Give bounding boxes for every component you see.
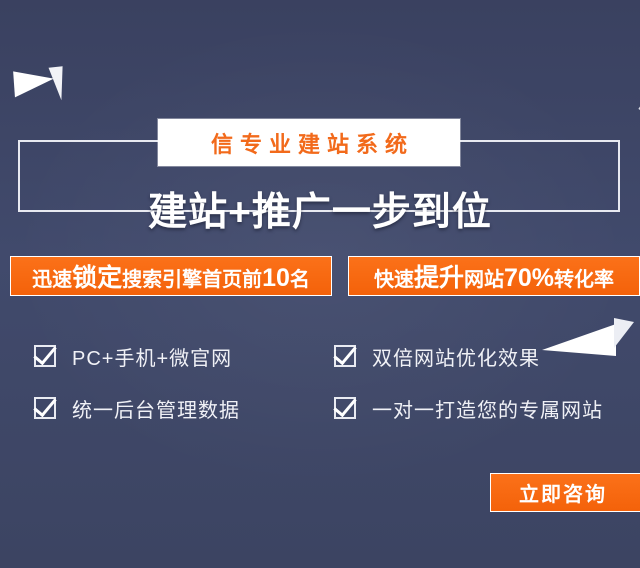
title-chip: 信专业建站系统 [158,119,460,166]
paper-plane-icon [14,62,70,106]
badge-conversion-rate: 快速提升网站70%转化率 [348,256,640,296]
badge-segment: 搜索引擎首页前 [122,269,262,291]
checkbox-checked-icon [334,345,356,367]
badge-segment: 名 [290,269,310,291]
badge-segment: 提升 [414,264,464,292]
consult-now-button[interactable]: 立即咨询 [490,473,640,512]
badge-segment: 转化率 [554,269,614,291]
paper-plane-wing-small [47,66,62,100]
badge-left-text: 迅速锁定搜索引擎首页前10名 [32,258,310,294]
title-chip-label: 信专业建站系统 [204,127,414,159]
feature-list: PC+手机+微官网 双倍网站优化效果 统一后台管理数据 一对一打造您的专属网站 [34,330,634,434]
feature-label: 双倍网站优化效果 [372,342,540,371]
consult-now-label: 立即咨询 [519,478,607,507]
checkbox-checked-icon [34,345,56,367]
page-title: 建站+推广一步到位 [130,181,510,237]
feature-item-3: 统一后台管理数据 [34,394,334,423]
badge-seo-ranking: 迅速锁定搜索引擎首页前10名 [10,256,332,296]
promo-banner: 信专业建站系统 建站+推广一步到位 迅速锁定搜索引擎首页前10名 快速提升网站7… [0,0,640,568]
feature-label: 统一后台管理数据 [72,394,240,423]
feature-label: 一对一打造您的专属网站 [372,394,603,423]
feature-item-2: 双倍网站优化效果 [334,342,634,371]
badge-right-text: 快速提升网站70%转化率 [374,258,614,294]
feature-item-4: 一对一打造您的专属网站 [334,394,634,423]
feature-label: PC+手机+微官网 [72,342,232,371]
feature-item-1: PC+手机+微官网 [34,342,334,371]
badge-segment: 锁定 [72,264,122,292]
badge-segment: 迅速 [32,269,72,291]
badge-segment: 网站 [464,269,504,291]
headline-row: 建站+推广一步到位 [0,181,640,237]
badge-segment: 10 [262,264,290,292]
badge-segment: 70% [504,264,554,292]
checkbox-checked-icon [334,397,356,419]
badge-segment: 快速 [374,269,414,291]
paper-plane-wing-large [13,69,55,98]
checkbox-checked-icon [34,397,56,419]
